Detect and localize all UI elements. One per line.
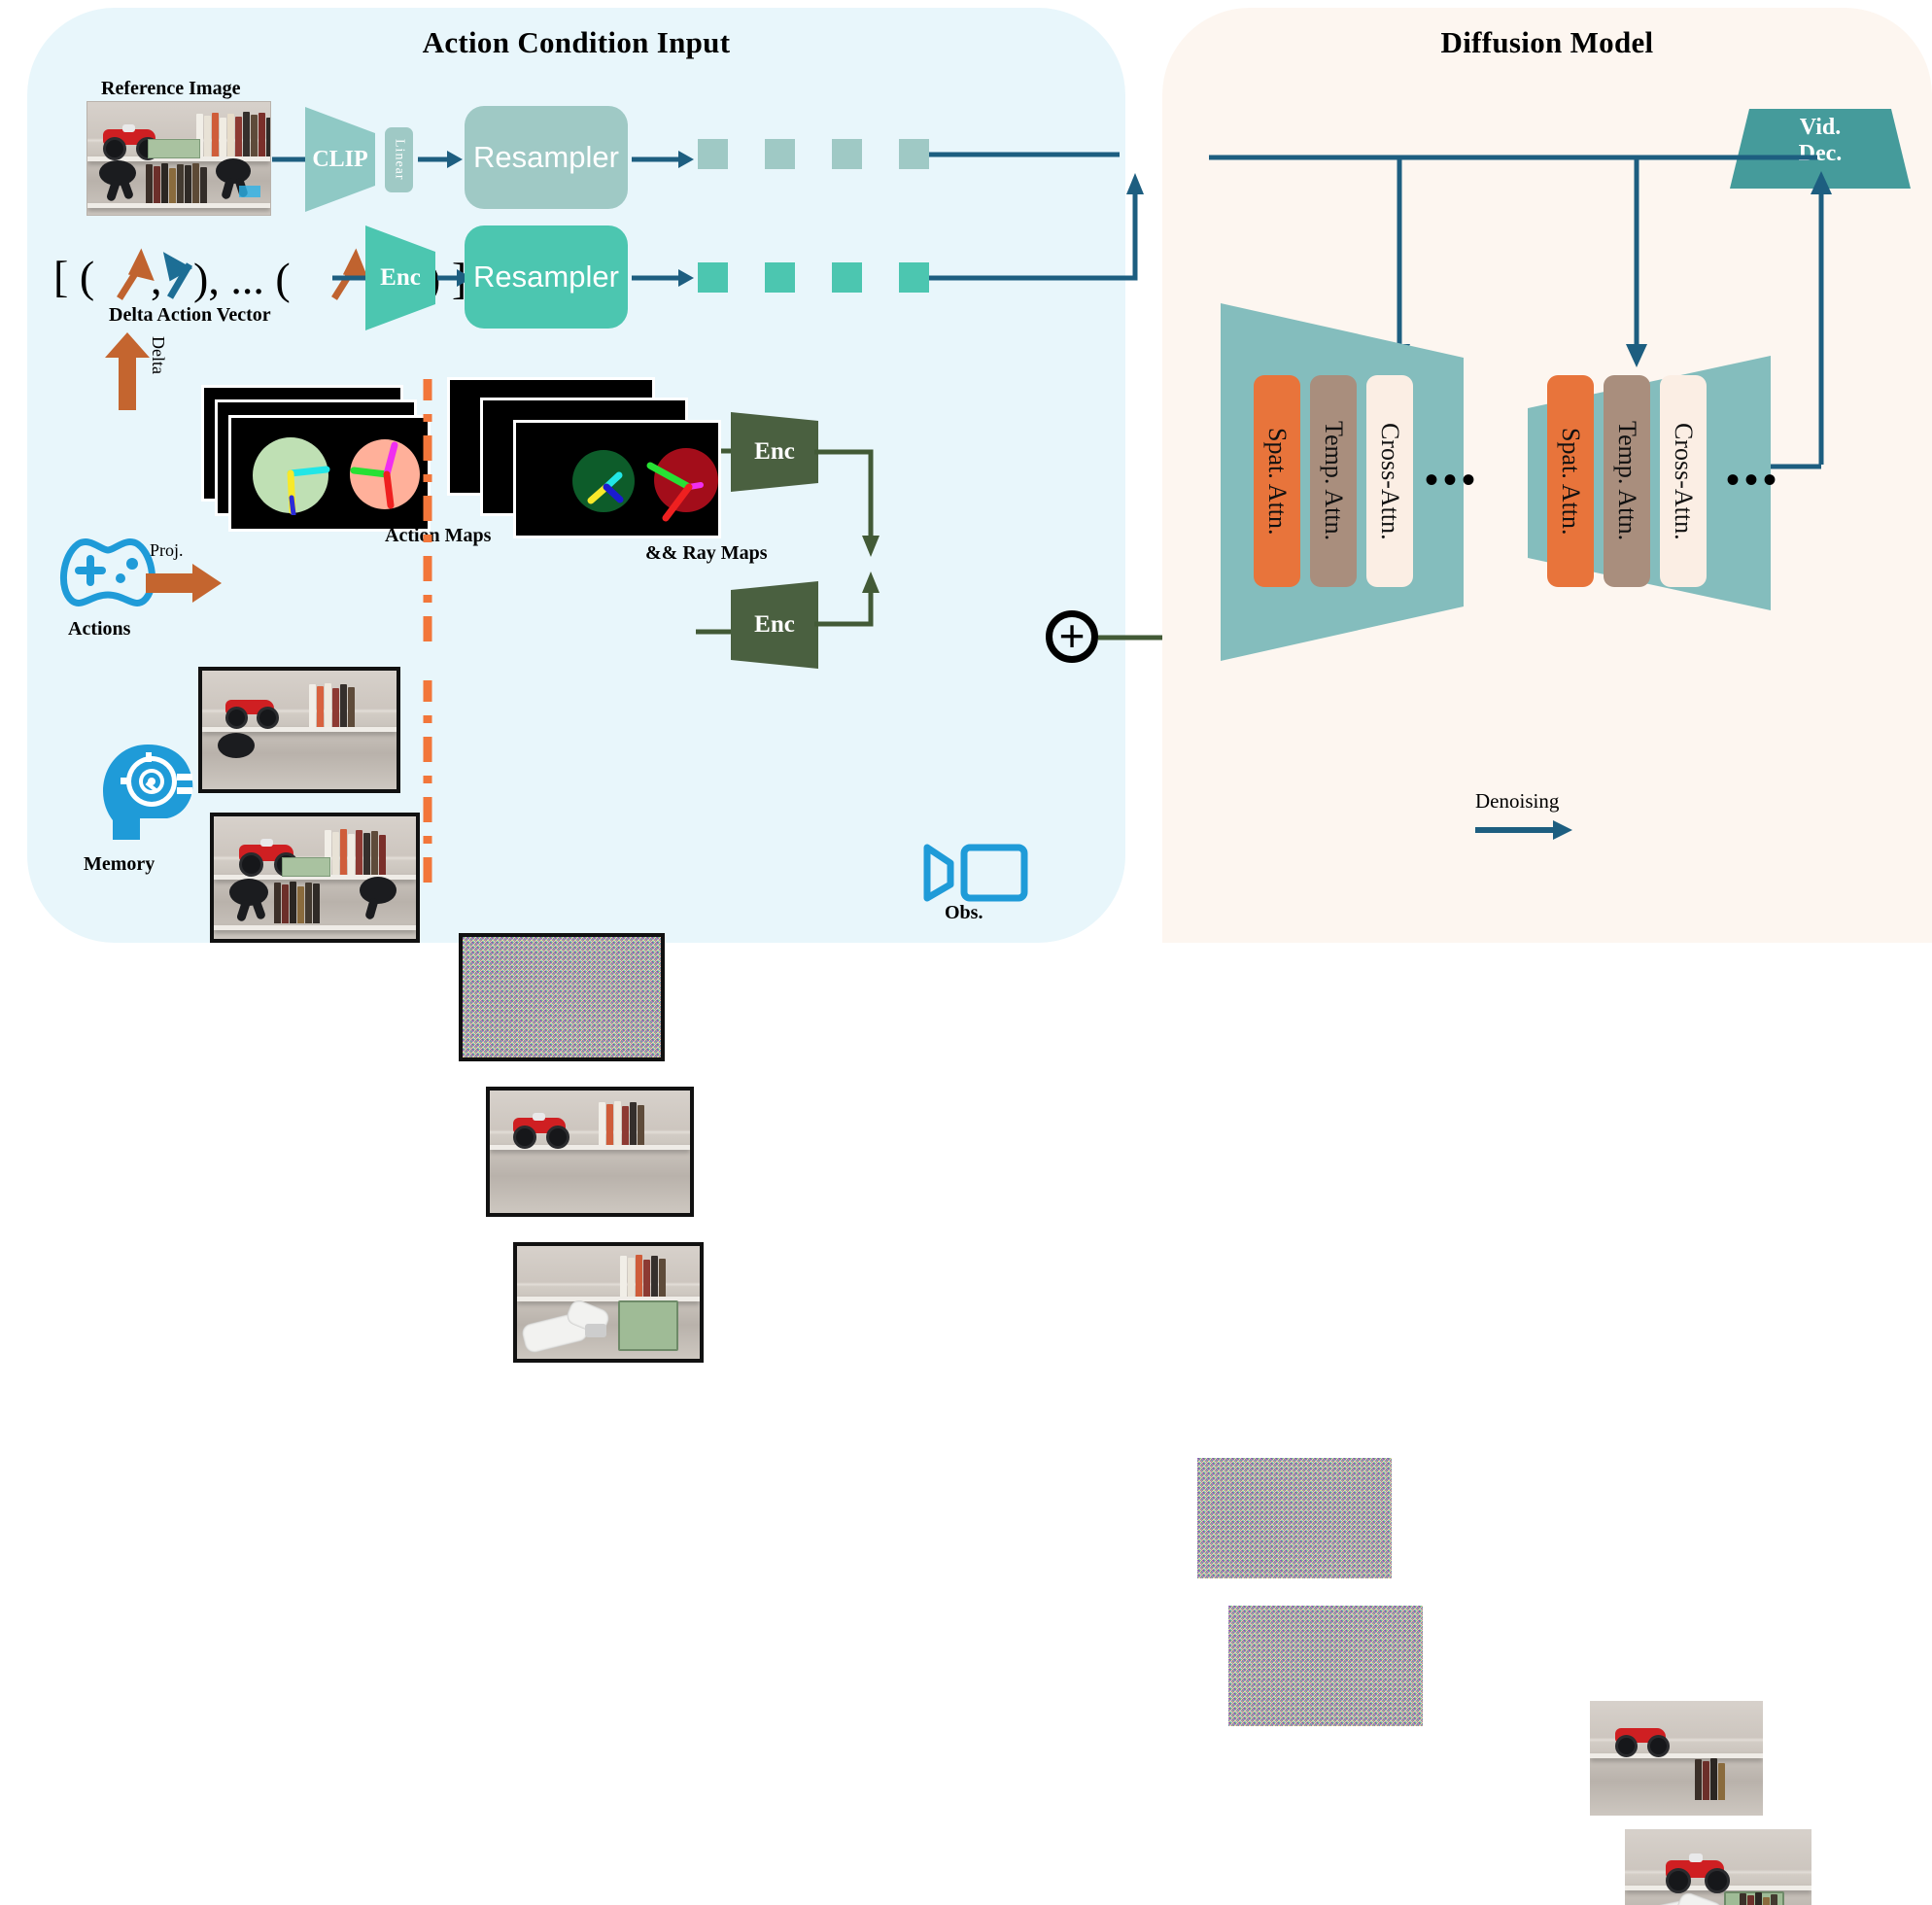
enc-action-label: Enc — [380, 264, 421, 292]
reference-image-label: Reference Image — [101, 78, 240, 100]
clip-label: CLIP — [312, 147, 367, 173]
memory-label: Memory — [84, 853, 155, 876]
noisy-latent-frame-back — [1197, 1458, 1392, 1578]
linear-block: Linear — [385, 127, 413, 192]
left-panel-title: Action Condition Input — [27, 25, 1125, 60]
down-block-ellipsis: ••• — [1425, 461, 1480, 500]
proj-label: Proj. — [150, 540, 184, 561]
arrow-action-tokens-to-sum — [925, 165, 1158, 292]
action-token-2 — [765, 262, 795, 293]
action-map-frame-front — [228, 415, 431, 532]
ray-map-frame-front — [513, 420, 721, 538]
resampler-action-label: Resampler — [473, 260, 619, 294]
up-spat-attn-label: Spat. Attn. — [1556, 428, 1585, 536]
denoising-label: Denoising — [1475, 789, 1559, 814]
down-temp-attn-label: Temp. Attn. — [1319, 421, 1348, 540]
ray-map-axes-right — [635, 440, 724, 530]
sum-node-latent: + — [1046, 610, 1098, 663]
reference-image-photo — [86, 101, 271, 216]
resampler-image-block: Resampler — [465, 106, 628, 209]
right-panel-title: Diffusion Model — [1162, 25, 1932, 60]
enc-raymaps-label: Enc — [754, 438, 795, 466]
right-panel-title-wrap: Diffusion Model — [1162, 25, 1932, 60]
obs-frame-mid — [486, 1087, 694, 1217]
delta-arrow-label: Delta — [148, 336, 168, 374]
action-maps-label: Action Maps — [385, 525, 491, 547]
linear-label: Linear — [392, 139, 407, 181]
noisy-latent-frame-front — [1228, 1606, 1423, 1726]
enc-action-label-wrap: Enc — [365, 225, 435, 330]
svg-text:[ (: [ ( — [53, 252, 94, 301]
memory-frame-front — [210, 813, 420, 943]
arrow-denoising — [1475, 816, 1572, 844]
section-divider-upper — [422, 379, 433, 671]
action-map-axes-right — [346, 432, 430, 515]
arrow-linear-to-resampler — [418, 146, 463, 173]
down-temp-attn-block[interactable]: Temp. Attn. — [1310, 375, 1357, 587]
down-cross-attn-label: Cross-Attn. — [1375, 423, 1404, 540]
down-spat-attn-block[interactable]: Spat. Attn. — [1254, 375, 1300, 587]
up-cross-attn-label: Cross-Attn. — [1669, 423, 1698, 540]
ray-maps-label: && Ray Maps — [645, 542, 768, 565]
up-spat-attn-block[interactable]: Spat. Attn. — [1547, 375, 1594, 587]
clean-frame-back — [1590, 1701, 1763, 1816]
up-block-ellipsis: ••• — [1726, 461, 1781, 500]
section-divider-lower — [422, 680, 433, 923]
actions-label: Actions — [68, 618, 130, 641]
action-token-3 — [832, 262, 862, 293]
action-map-axes-left — [253, 437, 330, 515]
memory-brain-icon — [97, 739, 198, 846]
camera-icon — [921, 842, 1036, 902]
up-temp-attn-label: Temp. Attn. — [1612, 421, 1641, 540]
left-panel-title-wrap: Action Condition Input — [27, 25, 1125, 60]
arrow-resampler-to-action-tokens — [632, 264, 694, 292]
clean-frame-front — [1625, 1829, 1811, 1905]
enc-obs-label-wrap: Enc — [731, 581, 818, 669]
image-token-3 — [832, 139, 862, 169]
delta-up-arrow-icon — [105, 332, 150, 410]
image-token-1 — [698, 139, 728, 169]
up-cross-attn-block[interactable]: Cross-Attn. — [1660, 375, 1707, 587]
enc-obs-label: Enc — [754, 611, 795, 639]
down-cross-attn-block[interactable]: Cross-Attn. — [1366, 375, 1413, 587]
action-token-1 — [698, 262, 728, 293]
arrow-image-tokens-to-sum — [929, 141, 1120, 168]
svg-text:), ... (: ), ... ( — [193, 254, 291, 303]
resampler-image-label: Resampler — [473, 140, 619, 175]
memory-frame-back — [198, 667, 400, 793]
clip-label-wrap: CLIP — [305, 107, 375, 212]
obs-frame-front — [513, 1242, 704, 1363]
enc-raymaps-label-wrap: Enc — [731, 412, 818, 492]
svg-text:,: , — [151, 254, 162, 303]
up-temp-attn-block[interactable]: Temp. Attn. — [1604, 375, 1650, 587]
down-spat-attn-label: Spat. Attn. — [1262, 428, 1292, 536]
arrow-resampler-to-image-tokens — [632, 146, 694, 173]
obs-label: Obs. — [945, 902, 983, 924]
arrow-proj — [146, 564, 222, 603]
arrow-to-video-decoder — [1808, 156, 1843, 467]
arrow-enc-obs-to-sum — [814, 570, 896, 638]
arrow-enc-raymaps-to-sum — [814, 442, 896, 559]
resampler-action-block: Resampler — [465, 225, 628, 329]
image-token-2 — [765, 139, 795, 169]
delta-action-vector-caption: Delta Action Vector — [109, 304, 271, 327]
